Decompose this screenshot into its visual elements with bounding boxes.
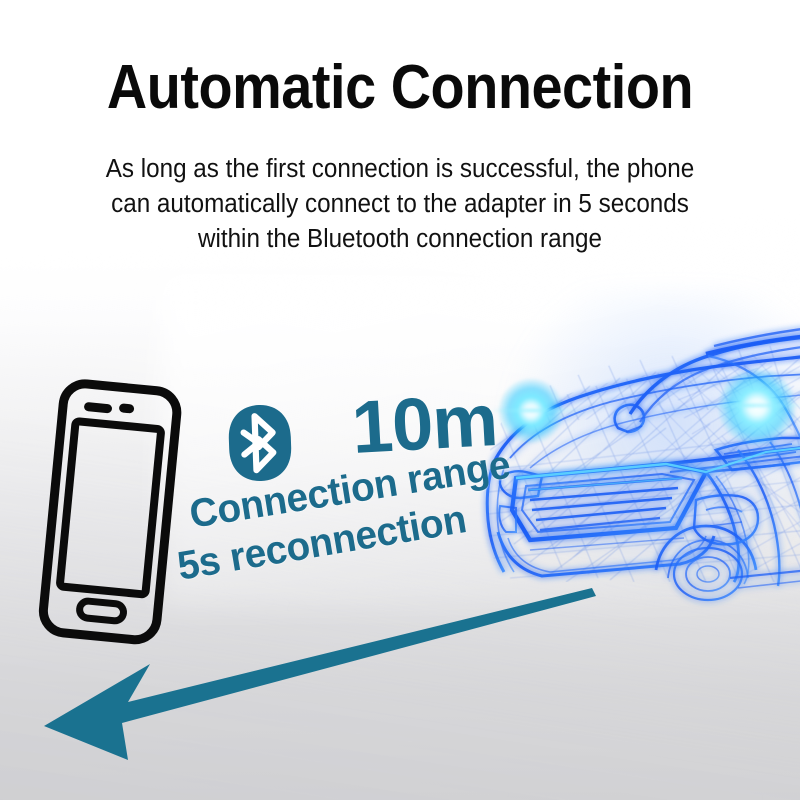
page-title: Automatic Connection (40, 57, 760, 119)
subtitle-line-1: As long as the first connection is succe… (58, 152, 742, 187)
subtitle-line-2: can automatically connect to the adapter… (58, 187, 742, 222)
smartphone-icon (29, 372, 194, 654)
page-subtitle: As long as the first connection is succe… (58, 152, 742, 257)
bluetooth-icon (227, 403, 294, 483)
promo-graphic: Automatic Connection As long as the firs… (0, 0, 800, 800)
subtitle-line-3: within the Bluetooth connection range (58, 222, 742, 257)
